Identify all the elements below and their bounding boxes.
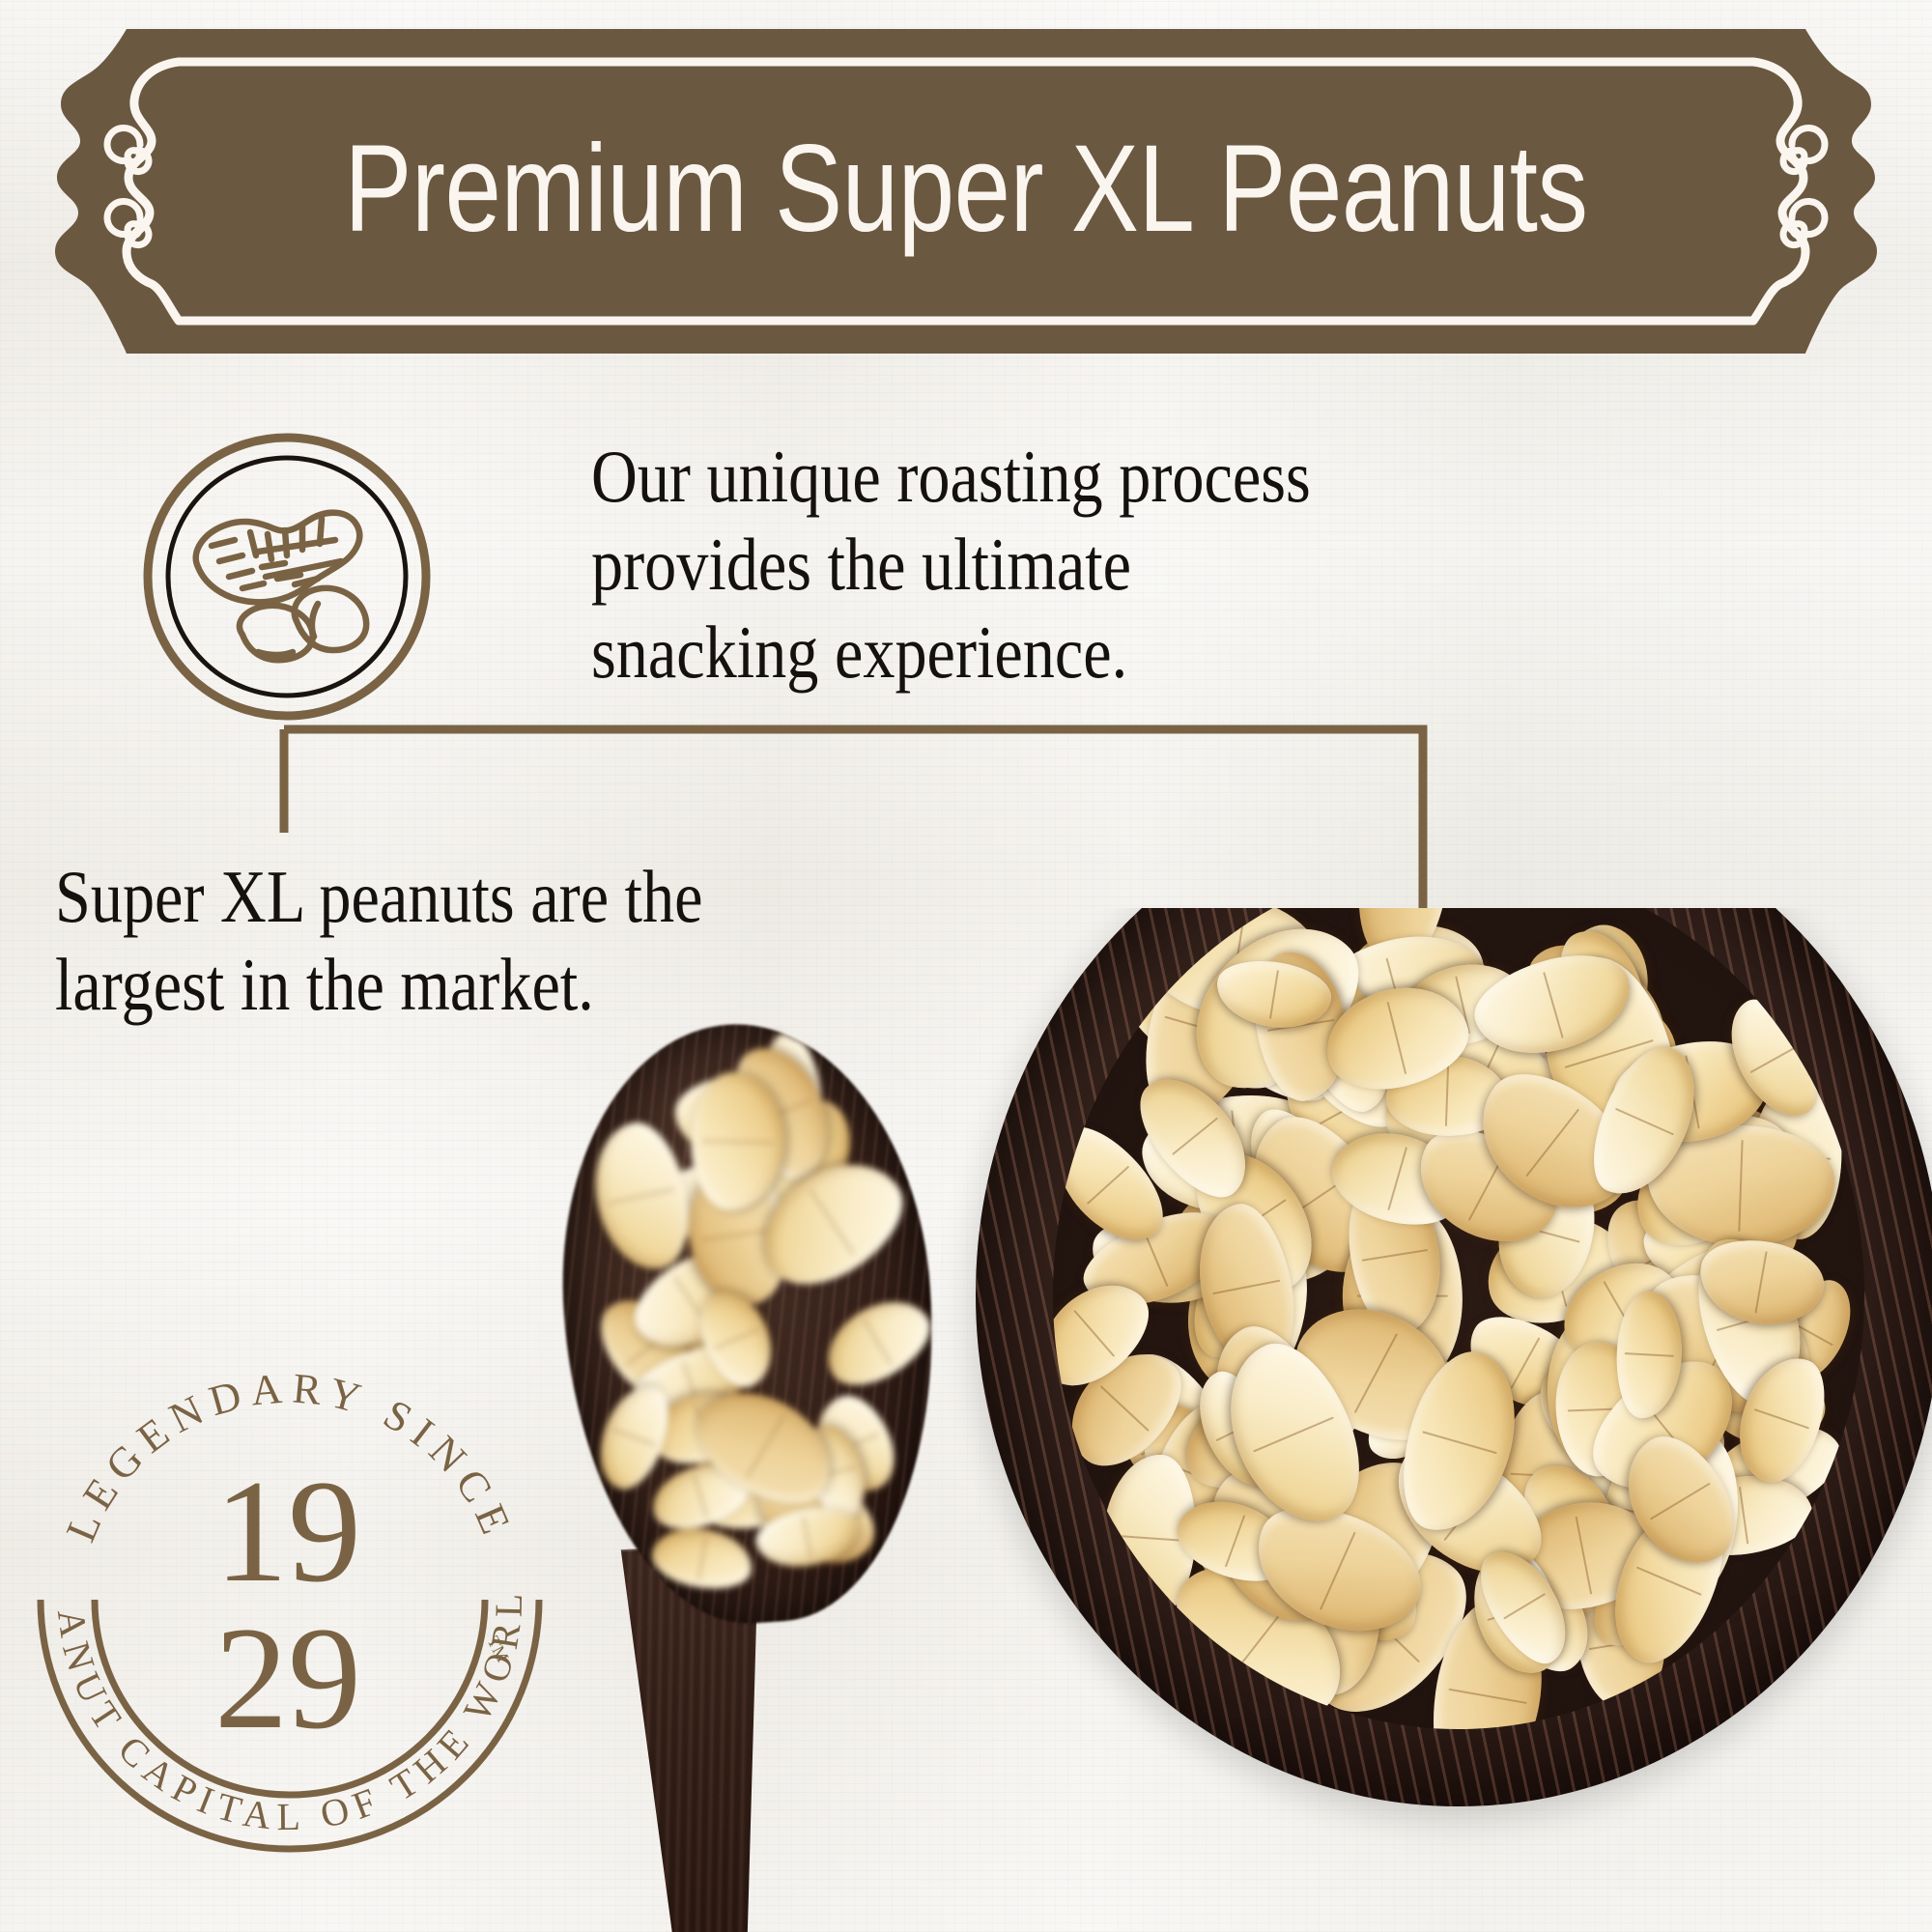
feature-headline: Our unique roasting process provides the… — [591, 433, 1538, 696]
page-title: Premium Super XL Peanuts — [202, 27, 1731, 355]
feature-headline-line-3: snacking experience. — [591, 609, 1538, 696]
wooden-bowl — [976, 908, 1932, 1806]
legendary-since-seal: LEGENDARY SINCE PEANUT CAPITAL OF THE WO… — [19, 1321, 560, 1862]
feature-headline-line-2: provides the ultimate — [591, 521, 1538, 609]
peanut — [813, 1284, 944, 1400]
spoon-bowl — [545, 1012, 952, 1635]
seal-year-bottom: 29 — [214, 1597, 361, 1759]
feature-headline-line-1: Our unique roasting process — [591, 433, 1538, 521]
peanut-shell-and-kernels-icon — [196, 513, 366, 661]
callout-text-line-1: Super XL peanuts are the — [55, 853, 985, 941]
spoon-peanuts — [545, 1012, 952, 1635]
peanut — [582, 1115, 699, 1277]
seal-year-top: 19 — [214, 1450, 361, 1612]
callout-text: Super XL peanuts are the largest in the … — [55, 853, 985, 1029]
bowl-interior — [1053, 908, 1864, 1729]
callout-text-line-2: largest in the market. — [55, 941, 985, 1029]
peanut-icon-badge — [142, 432, 432, 722]
header-banner: Premium Super XL Peanuts — [34, 27, 1898, 355]
bowl-peanuts — [1053, 908, 1864, 1729]
